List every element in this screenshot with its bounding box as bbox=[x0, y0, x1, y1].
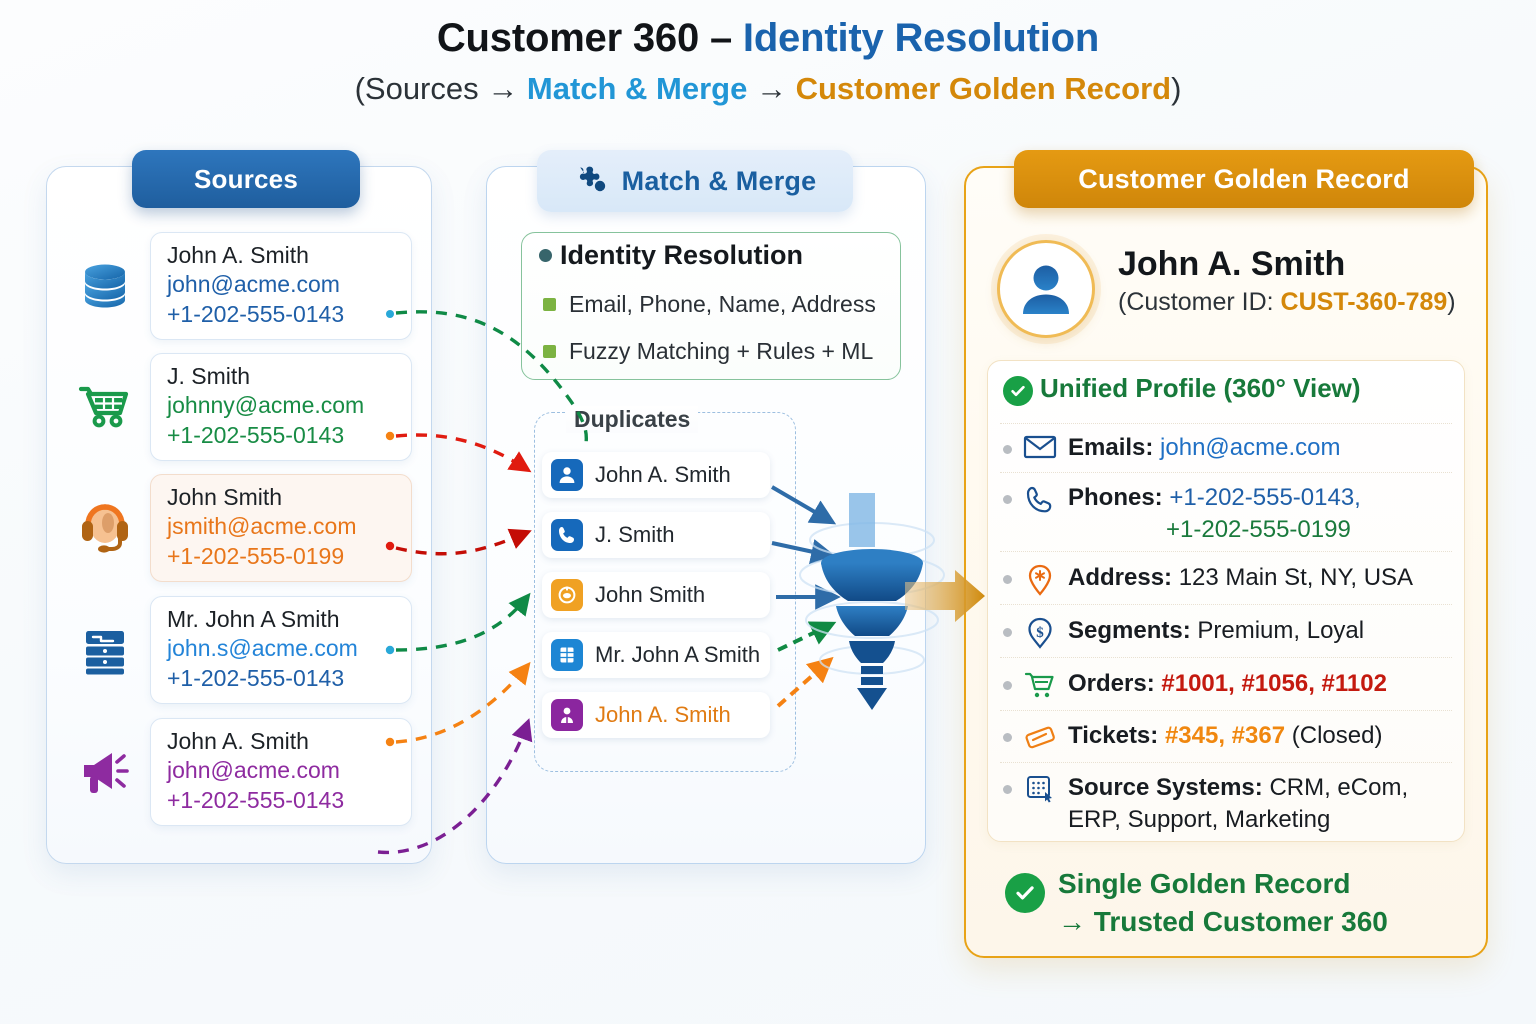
subtitle-sources: (Sources bbox=[355, 71, 488, 106]
profile-row-text: Tickets: #345, #367 (Closed) bbox=[1068, 720, 1382, 752]
match-merge-panel-header: Match & Merge bbox=[537, 150, 853, 212]
row-label: Source Systems: bbox=[1068, 774, 1263, 801]
phone-icon bbox=[551, 519, 583, 551]
support-icon bbox=[551, 579, 583, 611]
square-bullet-icon bbox=[543, 298, 556, 311]
source-card[interactable]: John A. Smith john@acme.com +1-202-555-0… bbox=[150, 232, 412, 340]
identity-bullet-text: Email, Phone, Name, Address bbox=[569, 291, 876, 318]
envelope-icon bbox=[1022, 432, 1058, 460]
row-value: +1-202-555-0143, bbox=[1169, 484, 1360, 511]
duplicate-item[interactable]: Mr. John A Smith bbox=[542, 632, 770, 678]
source-phone: +1-202-555-0199 bbox=[167, 542, 397, 571]
source-email: john@acme.com bbox=[167, 270, 397, 299]
duplicate-label: Mr. John A Smith bbox=[595, 642, 760, 668]
source-name: John A. Smith bbox=[167, 727, 397, 756]
profile-row-text: Emails: john@acme.com bbox=[1068, 432, 1340, 464]
customer-id-suffix: ) bbox=[1447, 288, 1455, 316]
source-row[interactable]: J. Smith johnny@acme.com +1-202-555-0143 bbox=[74, 353, 412, 461]
duplicate-item[interactable]: J. Smith bbox=[542, 512, 770, 558]
golden-footer-line-2: → Trusted Customer 360 bbox=[1058, 906, 1388, 938]
row-separator bbox=[1000, 551, 1452, 552]
row-separator bbox=[1000, 710, 1452, 711]
cart-icon bbox=[74, 376, 136, 438]
row-label: Orders: bbox=[1068, 670, 1155, 697]
source-row[interactable]: John A. Smith john@acme.com +1-202-555-0… bbox=[74, 232, 412, 340]
duplicate-item[interactable]: John Smith bbox=[542, 572, 770, 618]
source-row[interactable]: Mr. John A Smith john.s@acme.com +1-202-… bbox=[74, 596, 412, 704]
row-value: CRM, eCom, bbox=[1269, 774, 1408, 801]
duplicate-label: John A. Smith bbox=[595, 462, 731, 488]
row-value: #345, #367 bbox=[1165, 722, 1285, 749]
identity-bullet-item: Fuzzy Matching + Rules + ML bbox=[543, 338, 873, 365]
profile-row-tickets: Tickets: #345, #367 (Closed) bbox=[1003, 720, 1382, 752]
source-name: John Smith bbox=[167, 483, 397, 512]
unified-profile-title: Unified Profile (360° View) bbox=[1040, 373, 1361, 404]
square-bullet-icon bbox=[543, 345, 556, 358]
source-email: john.s@acme.com bbox=[167, 634, 397, 663]
identity-bullet-text: Fuzzy Matching + Rules + ML bbox=[569, 338, 873, 365]
source-name: John A. Smith bbox=[167, 241, 397, 270]
puzzle-icon bbox=[574, 160, 610, 203]
row-separator bbox=[1000, 657, 1452, 658]
row-separator bbox=[1000, 472, 1452, 473]
profile-row-text: Source Systems: CRM, eCom,ERP, Support, … bbox=[1068, 772, 1408, 835]
duplicate-label: J. Smith bbox=[595, 522, 674, 548]
source-card[interactable]: John Smith jsmith@acme.com +1-202-555-01… bbox=[150, 474, 412, 582]
golden-customer-name: John A. Smith bbox=[1118, 245, 1345, 284]
duplicates-label: Duplicates bbox=[566, 406, 698, 433]
profile-row-segments: $ Segments: Premium, Loyal bbox=[1003, 615, 1364, 649]
row-value-2: +1-202-555-0199 bbox=[1166, 516, 1351, 543]
check-circle-icon bbox=[1003, 376, 1033, 406]
page-title-plain: Customer 360 – bbox=[437, 16, 743, 60]
row-bullet bbox=[1003, 628, 1012, 637]
source-phone: +1-202-555-0143 bbox=[167, 786, 397, 815]
database-icon bbox=[74, 255, 136, 317]
cart-icon bbox=[1022, 668, 1058, 700]
page-subtitle: (Sources → Match & Merge → Customer Gold… bbox=[0, 70, 1536, 109]
row-bullet bbox=[1003, 445, 1012, 454]
row-value: Premium, Loyal bbox=[1197, 617, 1364, 644]
subtitle-golden-record: Customer Golden Record bbox=[796, 71, 1172, 106]
source-phone: +1-202-555-0143 bbox=[167, 300, 397, 329]
source-card[interactable]: Mr. John A Smith john.s@acme.com +1-202-… bbox=[150, 596, 412, 704]
identity-resolution-title: Identity Resolution bbox=[560, 240, 803, 271]
golden-customer-id: (Customer ID: CUST-360-789) bbox=[1118, 288, 1456, 317]
dollar-icon: $ bbox=[1022, 615, 1058, 649]
golden-record-panel-header: Customer Golden Record bbox=[1014, 150, 1474, 208]
user-avatar-icon bbox=[1011, 254, 1081, 324]
profile-row-orders: Orders: #1001, #1056, #1102 bbox=[1003, 668, 1387, 700]
row-bullet bbox=[1003, 733, 1012, 742]
person-icon bbox=[551, 459, 583, 491]
profile-row-source-systems: Source Systems: CRM, eCom,ERP, Support, … bbox=[1003, 772, 1408, 835]
server-icon bbox=[74, 619, 136, 681]
profile-row-text: Phones: +1-202-555-0143,+1-202-555-0199 bbox=[1068, 482, 1361, 545]
subtitle-match-merge: Match & Merge bbox=[527, 71, 747, 106]
location-icon bbox=[1022, 562, 1058, 596]
row-label: Phones: bbox=[1068, 484, 1163, 511]
profile-row-text: Segments: Premium, Loyal bbox=[1068, 615, 1364, 647]
row-value: 123 Main St, NY, USA bbox=[1179, 564, 1413, 591]
customer-id-value: CUST-360-789 bbox=[1281, 288, 1448, 316]
row-label: Emails: bbox=[1068, 434, 1153, 461]
row-label: Address: bbox=[1068, 564, 1172, 591]
profile-row-emails: Emails: john@acme.com bbox=[1003, 432, 1340, 464]
row-separator bbox=[1000, 604, 1452, 605]
source-card[interactable]: J. Smith johnny@acme.com +1-202-555-0143 bbox=[150, 353, 412, 461]
golden-record-panel-title: Customer Golden Record bbox=[1078, 164, 1409, 195]
ticket-icon bbox=[1022, 720, 1058, 752]
duplicate-label: John Smith bbox=[595, 582, 705, 608]
phone-icon bbox=[1022, 482, 1058, 516]
sources-panel-header: Sources bbox=[132, 150, 360, 208]
megaphone-icon bbox=[74, 741, 136, 803]
row-value: john@acme.com bbox=[1160, 434, 1340, 461]
source-card[interactable]: John A. Smith john@acme.com +1-202-555-0… bbox=[150, 718, 412, 826]
row-separator bbox=[1000, 423, 1452, 424]
subtitle-arrow-1: → bbox=[487, 71, 527, 106]
page-title-accent: Identity Resolution bbox=[743, 16, 1099, 60]
systems-icon bbox=[1022, 772, 1058, 804]
source-email: jsmith@acme.com bbox=[167, 512, 397, 541]
row-bullet bbox=[1003, 681, 1012, 690]
profile-row-text: Orders: #1001, #1056, #1102 bbox=[1068, 668, 1387, 700]
page-title-block: Customer 360 – Identity Resolution (Sour… bbox=[0, 14, 1536, 109]
source-name: Mr. John A Smith bbox=[167, 605, 397, 634]
customer-id-prefix: (Customer ID: bbox=[1118, 288, 1281, 316]
profile-row-text: Address: 123 Main St, NY, USA bbox=[1068, 562, 1413, 594]
source-row[interactable]: John Smith jsmith@acme.com +1-202-555-01… bbox=[74, 474, 412, 582]
source-row[interactable]: John A. Smith john@acme.com +1-202-555-0… bbox=[74, 718, 412, 826]
source-email: john@acme.com bbox=[167, 756, 397, 785]
row-label: Tickets: bbox=[1068, 722, 1158, 749]
identity-bullet-item: Email, Phone, Name, Address bbox=[543, 291, 876, 318]
source-name: J. Smith bbox=[167, 362, 397, 391]
source-email: johnny@acme.com bbox=[167, 391, 397, 420]
duplicate-label: John A. Smith bbox=[595, 702, 731, 728]
row-value-2: ERP, Support, Marketing bbox=[1068, 806, 1330, 833]
golden-footer-line-1: Single Golden Record bbox=[1058, 868, 1350, 900]
contact-icon bbox=[551, 699, 583, 731]
match-merge-panel-title: Match & Merge bbox=[622, 166, 817, 197]
subtitle-close-paren: ) bbox=[1171, 71, 1181, 106]
duplicate-item[interactable]: John A. Smith bbox=[542, 452, 770, 498]
row-label: Segments: bbox=[1068, 617, 1191, 644]
identity-bullet-dot bbox=[539, 249, 552, 262]
duplicate-item[interactable]: John A. Smith bbox=[542, 692, 770, 738]
source-phone: +1-202-555-0143 bbox=[167, 664, 397, 693]
row-bullet bbox=[1003, 575, 1012, 584]
avatar bbox=[997, 240, 1095, 338]
server-icon bbox=[551, 639, 583, 671]
profile-row-address: Address: 123 Main St, NY, USA bbox=[1003, 562, 1413, 596]
row-bullet bbox=[1003, 495, 1012, 504]
profile-row-phones: Phones: +1-202-555-0143,+1-202-555-0199 bbox=[1003, 482, 1361, 545]
subtitle-arrow-2: → bbox=[747, 71, 795, 106]
check-circle-icon bbox=[1005, 873, 1045, 913]
row-separator bbox=[1000, 762, 1452, 763]
row-bullet bbox=[1003, 785, 1012, 794]
row-value: #1001, #1056, #1102 bbox=[1161, 670, 1387, 697]
svg-text:$: $ bbox=[1036, 625, 1044, 641]
row-value-2: (Closed) bbox=[1285, 722, 1382, 749]
page-title: Customer 360 – Identity Resolution bbox=[0, 14, 1536, 62]
source-phone: +1-202-555-0143 bbox=[167, 421, 397, 450]
headset-icon bbox=[74, 497, 136, 559]
sources-panel-title: Sources bbox=[194, 164, 298, 195]
